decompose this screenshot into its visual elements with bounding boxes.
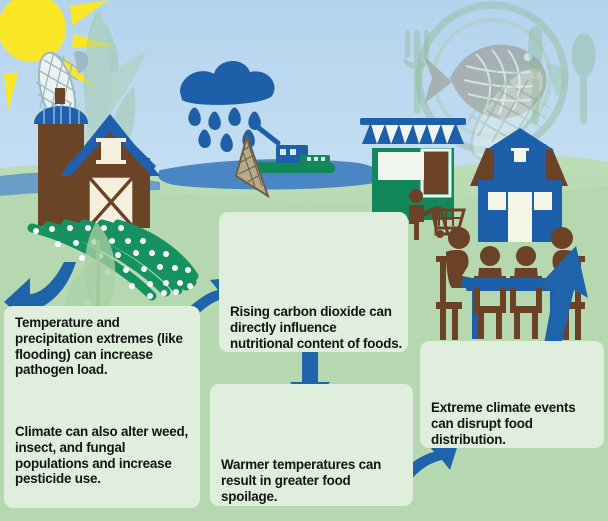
callout-pathogen-pesticide: Temperature and precipitation extremes (…: [4, 306, 200, 508]
callout-text-distribution: Extreme climate events can disrupt food …: [431, 400, 601, 447]
grocery-store-icon: [360, 118, 466, 220]
callout-text-pesticide: Climate can also alter weed, insect, and…: [15, 424, 195, 487]
callout-text-co2: Rising carbon dioxide can directly influ…: [230, 304, 402, 351]
callout-carbon-dioxide: Rising carbon dioxide can directly influ…: [219, 212, 408, 352]
callout-text-pathogen: Temperature and precipitation extremes (…: [15, 315, 193, 378]
callout-text-spoilage: Warmer temperatures can result in greate…: [221, 457, 407, 504]
infographic-canvas: Temperature and precipitation extremes (…: [0, 0, 608, 521]
callout-food-distribution: Extreme climate events can disrupt food …: [420, 341, 604, 448]
callout-food-spoilage: Warmer temperatures can result in greate…: [210, 384, 413, 506]
